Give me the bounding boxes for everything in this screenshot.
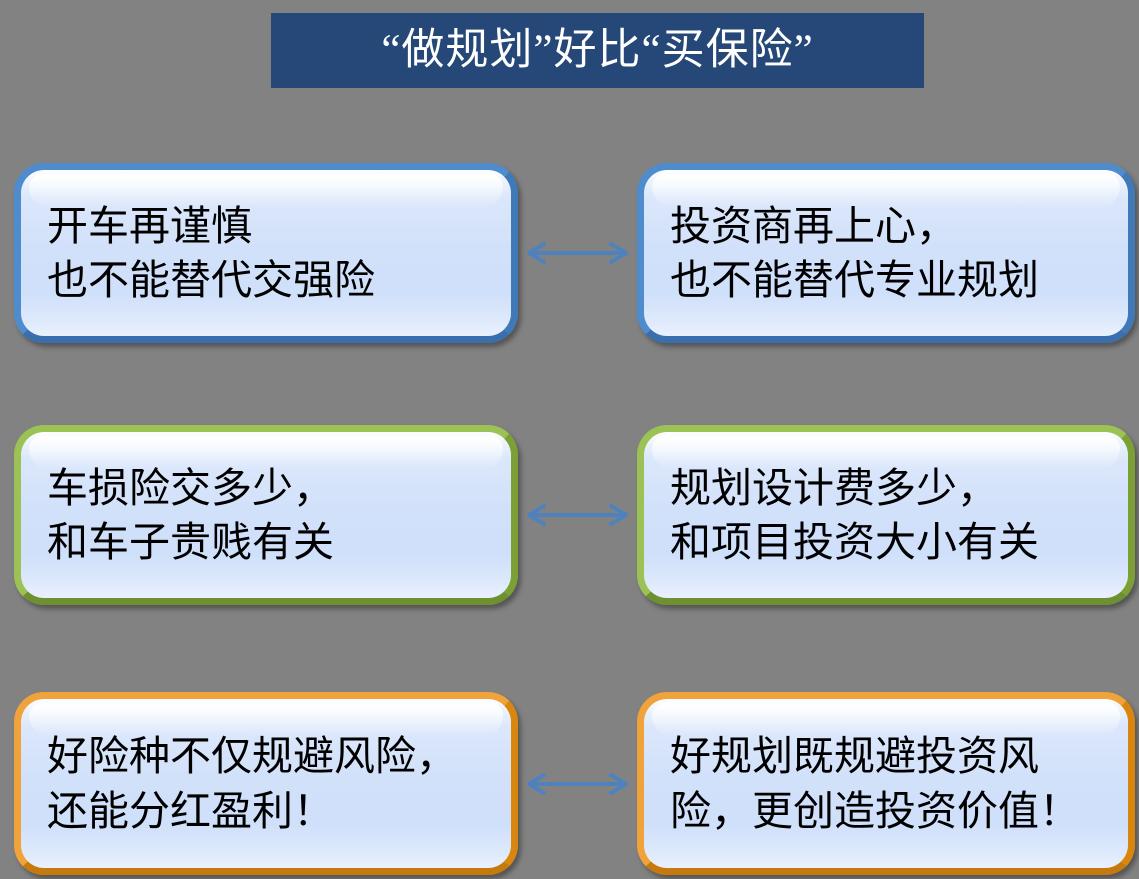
page-title: “做规划”好比“买保险”	[381, 29, 813, 72]
row-1-left-text: 开车再谨慎 也不能替代交强险	[21, 199, 385, 307]
row-3-left-text: 好险种不仅规避风险， 还能分红盈利！	[21, 729, 467, 837]
row-1-double-arrow-icon	[518, 241, 637, 265]
row-2-double-arrow-icon	[518, 503, 637, 527]
row-2-right-text: 规划设计费多少， 和项目投资大小有关	[644, 461, 1049, 569]
row-2-left-box[interactable]: 车损险交多少， 和车子贵贱有关	[14, 425, 518, 605]
row-1-left-box[interactable]: 开车再谨慎 也不能替代交强险	[14, 163, 518, 343]
slide-title-bar: “做规划”好比“买保险”	[271, 13, 924, 88]
row-2-right-box[interactable]: 规划设计费多少， 和项目投资大小有关	[637, 425, 1135, 605]
comparison-row-2: 车损险交多少， 和车子贵贱有关 规划设计费多少， 和项目投资大小有关	[0, 425, 1139, 605]
comparison-row-1: 开车再谨慎 也不能替代交强险 投资商再上心， 也不能替代专业规划	[0, 163, 1139, 343]
row-3-right-box[interactable]: 好规划既规避投资风 险，更创造投资价值！	[637, 692, 1135, 875]
row-1-right-box[interactable]: 投资商再上心， 也不能替代专业规划	[637, 163, 1135, 343]
row-3-right-text: 好规划既规避投资风 险，更创造投资价值！	[644, 729, 1090, 837]
row-3-double-arrow-icon	[518, 772, 637, 796]
row-3-left-box[interactable]: 好险种不仅规避风险， 还能分红盈利！	[14, 692, 518, 875]
row-2-left-text: 车损险交多少， 和车子贵贱有关	[21, 461, 344, 569]
comparison-row-3: 好险种不仅规避风险， 还能分红盈利！ 好规划既规避投资风 险，更创造投资价值！	[0, 692, 1139, 879]
row-1-right-text: 投资商再上心， 也不能替代专业规划	[644, 199, 1049, 307]
